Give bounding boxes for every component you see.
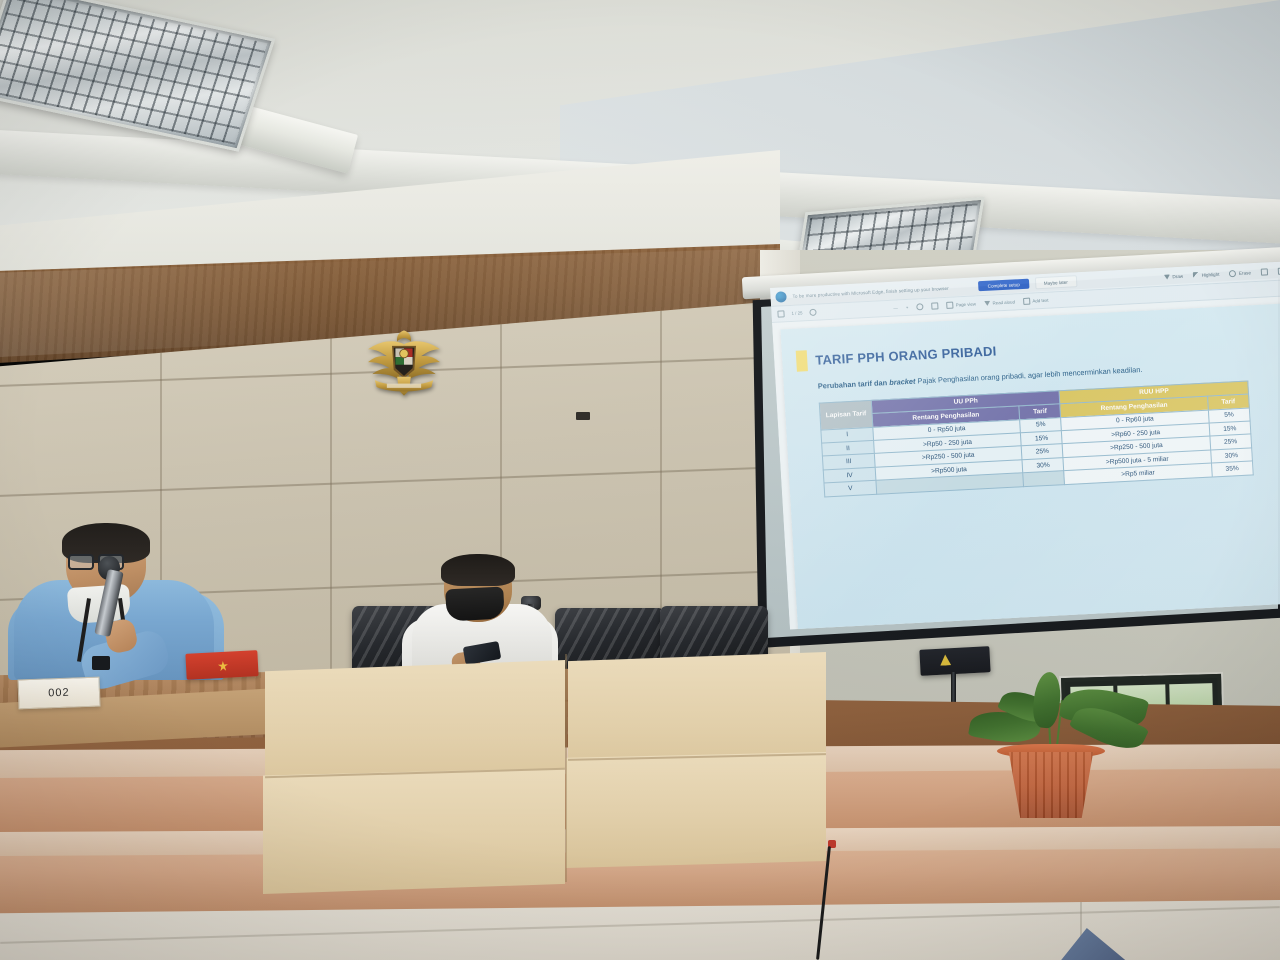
panel-seam: [565, 654, 567, 882]
page-number-field[interactable]: 1 / 25: [791, 310, 802, 316]
slide-title: TARIF PPH ORANG PRIBADI: [815, 343, 997, 367]
page-view-tool[interactable]: Page view: [946, 300, 976, 309]
draw-tool[interactable]: Draw: [1164, 273, 1184, 279]
table-placard: 002: [18, 677, 101, 710]
front-panel: [263, 768, 565, 894]
projected-image: To be more productive with Microsoft Edg…: [770, 261, 1280, 629]
front-panel: [566, 752, 826, 868]
erase-icon: [1229, 269, 1236, 276]
setup-banner-text: To be more productive with Microsoft Edg…: [792, 285, 949, 298]
fit-page-icon: [916, 303, 923, 310]
complete-setup-button[interactable]: Complete setup: [978, 279, 1029, 292]
read-aloud-label: Read aloud: [992, 299, 1015, 305]
save-icon: [1261, 268, 1268, 275]
hair: [441, 554, 515, 586]
slide-title-row: TARIF PPH ORANG PRIBADI: [796, 326, 1277, 372]
seated-person-with-phone: [398, 558, 568, 676]
draw-label: Draw: [1172, 273, 1183, 279]
save-tool[interactable]: [1261, 268, 1268, 275]
read-aloud-tool[interactable]: Read aloud: [984, 299, 1015, 306]
box-emblem-icon: [218, 661, 229, 672]
subtitle-bold: Perubahan tarif dan: [818, 378, 890, 391]
add-text-tool[interactable]: Add text: [1023, 297, 1049, 305]
panel-seam: [0, 464, 790, 498]
edge-logo-icon: [775, 291, 787, 303]
red-presentation-box: [185, 650, 258, 680]
id-badge: [92, 656, 110, 670]
read-aloud-icon: [984, 301, 990, 306]
page-view-icon: [946, 302, 953, 309]
black-face-mask: [445, 587, 505, 622]
warning-triangle-icon: [940, 654, 952, 666]
maybe-later-button[interactable]: Maybe later: [1034, 275, 1077, 289]
panel-seam: [330, 320, 332, 690]
zoom-out-button[interactable]: —: [893, 305, 898, 310]
edge-browser-window: To be more productive with Microsoft Edg…: [770, 261, 1280, 629]
fit-page-button[interactable]: [916, 303, 923, 310]
cell-lapisan: V: [824, 481, 877, 497]
pdf-viewport: TARIF PPH ORANG PRIBADI Perubahan tarif …: [772, 296, 1280, 629]
sidebar-toggle[interactable]: [777, 310, 784, 317]
search-icon: [809, 309, 816, 316]
add-text-icon: [1023, 298, 1030, 305]
erase-tool[interactable]: Erase: [1229, 269, 1251, 277]
zoom-in-button[interactable]: +: [906, 305, 909, 310]
slide-page: TARIF PPH ORANG PRIBADI Perubahan tarif …: [780, 303, 1280, 629]
sidebar-icon: [777, 310, 784, 317]
garuda-pancasila-emblem: [361, 327, 447, 399]
room-photo: To be more productive with Microsoft Edg…: [0, 0, 1280, 960]
wall-socket-icon: [576, 412, 590, 420]
cell-hpp_tarif: 35%: [1211, 461, 1253, 477]
subtitle-rest: Pajak Penghasilan orang pribadi, agar le…: [915, 365, 1142, 386]
highlight-label: Highlight: [1201, 271, 1219, 277]
annotation-tools[interactable]: Draw Highlight Erase: [1164, 267, 1280, 280]
highlight-tool[interactable]: Highlight: [1193, 271, 1220, 278]
add-text-label: Add text: [1032, 298, 1048, 304]
draw-icon: [1164, 274, 1170, 279]
subtitle-italic: bracket: [889, 377, 916, 387]
page-view-label: Page view: [956, 301, 977, 307]
search-button[interactable]: [809, 309, 816, 316]
fullscreen-button[interactable]: [931, 302, 938, 309]
tax-bracket-table: Lapisan Tarif UU PPh RUU HPP Rentang Pen…: [819, 380, 1254, 497]
cell-uu_tarif: [1023, 471, 1065, 487]
col-lapisan-tarif: Lapisan Tarif: [819, 400, 873, 430]
fullscreen-icon: [931, 302, 938, 309]
highlight-icon: [1193, 272, 1199, 278]
title-accent-bar: [796, 350, 808, 372]
eyeglasses-icon: [68, 554, 94, 570]
erase-label: Erase: [1239, 270, 1251, 276]
